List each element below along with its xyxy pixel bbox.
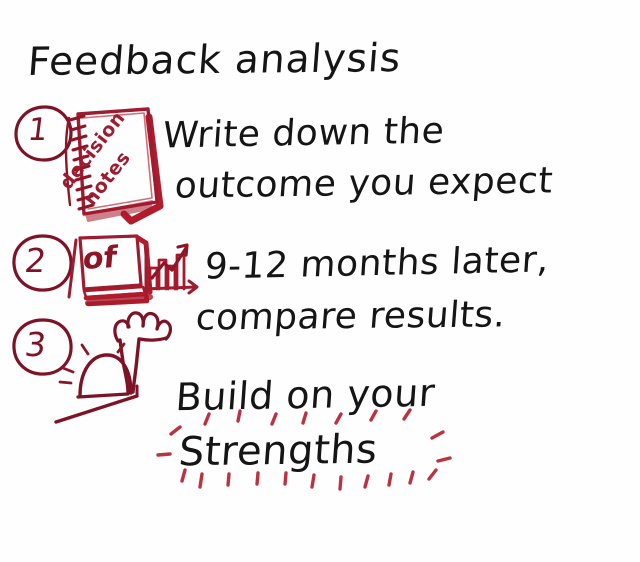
step-1-text-line-2: outcome you expect [173,160,554,206]
step-number-1: 1 [26,112,50,148]
paper-stack-label: of [81,240,118,277]
step-3-text-line-1: Build on your [174,371,436,420]
step-2-text-line-1: 9-12 months later, [203,239,550,287]
step-2-text-line-2: compare results. [194,294,507,338]
flexing-muscle-icon [56,313,170,422]
step-number-3: 3 [23,325,49,364]
whiteboard-sketch-canvas: 1 2 3 decision notes of Feedback analysi… [0,0,640,562]
step-1-text-line-1: Write down the [161,111,445,157]
step-number-2: 2 [23,241,49,280]
page-title: Feedback analysis [26,36,403,85]
step-3-text-emphasis-word: Strengths [177,427,379,476]
bar-chart-icon [144,245,197,293]
